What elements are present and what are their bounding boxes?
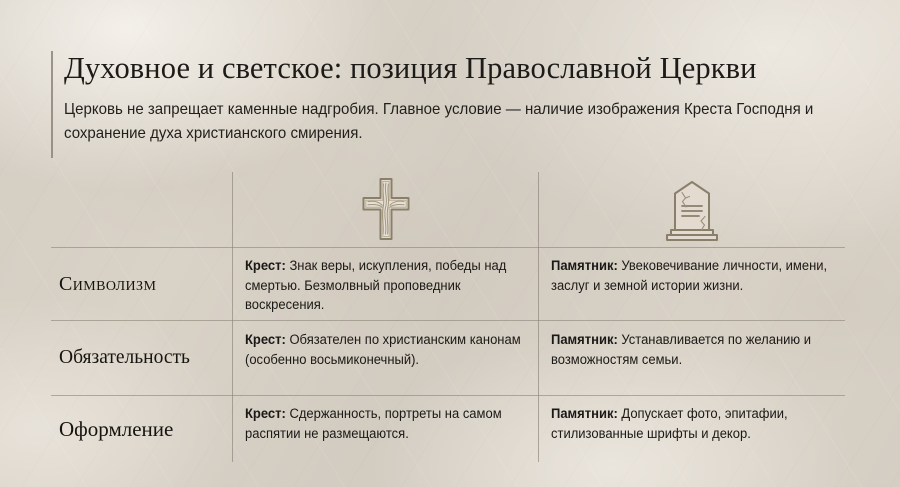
tombstone-icon <box>661 176 723 242</box>
header-block: Духовное и светское: позиция Православно… <box>51 48 851 146</box>
slide-content: Духовное и светское: позиция Православно… <box>0 0 900 487</box>
slide-page: Духовное и светское: позиция Православно… <box>0 0 900 487</box>
grave-keyword: Памятник: <box>551 332 618 347</box>
header-accent-bar <box>51 51 53 158</box>
row-grave-cell: Памятник: Увековечивание личности, имени… <box>551 256 834 295</box>
cross-text: Обязателен по христианским канонам (особ… <box>245 332 521 367</box>
row-label-cell: Обязательность <box>51 321 227 395</box>
row-label: Обязательность <box>59 347 190 369</box>
row-cross-cell: Крест: Обязателен по христианским канона… <box>245 330 526 369</box>
row-cross-cell: Крест: Сдержанность, портреты на самом р… <box>245 404 526 443</box>
comparison-table: Символизм Крест: Знак веры, искупления, … <box>51 172 845 464</box>
grave-keyword: Памятник: <box>551 258 618 273</box>
cross-icon <box>360 176 412 242</box>
cross-keyword: Крест: <box>245 406 286 421</box>
row-grave-cell: Памятник: Допускает фото, эпитафии, стил… <box>551 404 834 443</box>
row-grave-cell: Памятник: Устанавливается по желанию и в… <box>551 330 834 369</box>
row-label-cell: Символизм <box>51 248 227 320</box>
grave-keyword: Памятник: <box>551 406 618 421</box>
grave-column-header <box>539 172 845 246</box>
cross-keyword: Крест: <box>245 258 286 273</box>
cross-column-header <box>233 172 538 246</box>
page-title: Духовное и светское: позиция Православно… <box>64 48 851 88</box>
cross-keyword: Крест: <box>245 332 286 347</box>
row-label: Символизм <box>59 273 156 296</box>
page-subtitle: Церковь не запрещает каменные надгробия.… <box>64 98 823 146</box>
row-cross-cell: Крест: Знак веры, искупления, победы над… <box>245 256 526 315</box>
row-label: Оформление <box>59 417 173 442</box>
row-label-cell: Оформление <box>51 396 227 462</box>
